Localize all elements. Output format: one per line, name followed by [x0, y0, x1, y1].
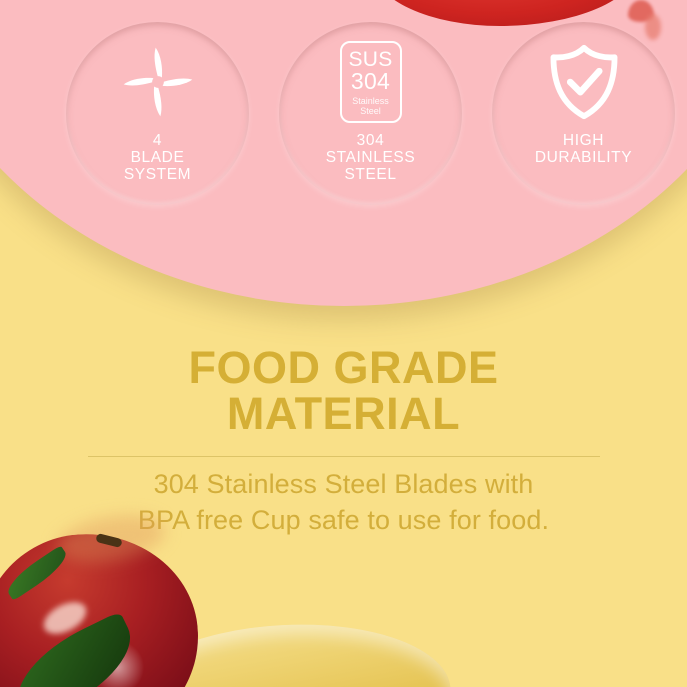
sus-badge-line3: Stainless [352, 96, 389, 106]
apple-specular-highlight [39, 596, 92, 641]
banana-image [117, 616, 453, 687]
feature-label-blade-system: 4 BLADE SYSTEM [124, 132, 191, 183]
feature-circle-high-durability[interactable]: HIGH DURABILITY [492, 22, 675, 205]
four-blade-propeller-icon [119, 34, 197, 130]
feature-label-line1: 4 [153, 132, 162, 149]
sus-badge-line1: SUS [348, 49, 392, 70]
feature-circle-stainless-steel[interactable]: SUS 304 Stainless Steel 304 STAINLESS ST… [279, 22, 462, 205]
sus-badge-line4: Steel [360, 106, 381, 116]
description-line1: 304 Stainless Steel Blades with [154, 469, 534, 499]
orange-fruit-image [0, 591, 78, 687]
green-leaf-secondary-image [2, 545, 71, 601]
feature-label-line3: STEEL [344, 166, 396, 183]
headline-divider [88, 456, 600, 457]
feature-label-stainless-steel: 304 STAINLESS STEEL [326, 132, 416, 183]
shield-check-icon [547, 34, 621, 130]
feature-highlights-row: 4 BLADE SYSTEM SUS 304 Stainless Steel 3… [0, 0, 687, 300]
headline: FOOD GRADE MATERIAL [0, 345, 687, 437]
description-text: 304 Stainless Steel Blades with BPA free… [0, 466, 687, 538]
description-line2: BPA free Cup safe to use for food. [0, 502, 687, 538]
feature-label-line1: 304 [357, 132, 385, 149]
promo-banner: 4 BLADE SYSTEM SUS 304 Stainless Steel 3… [0, 0, 687, 687]
feature-label-line2: BLADE [131, 149, 185, 166]
sus-304-stainless-steel-badge-icon: SUS 304 Stainless Steel [340, 34, 402, 130]
feature-label-line2: STAINLESS [326, 149, 416, 166]
red-apple-image [0, 527, 205, 687]
green-leaf-image [1, 611, 147, 687]
feature-label-line1: HIGH [563, 132, 604, 149]
sus-badge-line2: 304 [351, 70, 390, 93]
sus-badge-frame: SUS 304 Stainless Steel [340, 41, 402, 123]
headline-line1: FOOD GRADE [188, 342, 498, 393]
feature-circle-blade-system[interactable]: 4 BLADE SYSTEM [66, 22, 249, 205]
feature-label-line3: SYSTEM [124, 166, 191, 183]
headline-line2: MATERIAL [0, 391, 687, 437]
feature-label-line2: DURABILITY [535, 149, 632, 166]
feature-label-high-durability: HIGH DURABILITY [535, 132, 632, 166]
